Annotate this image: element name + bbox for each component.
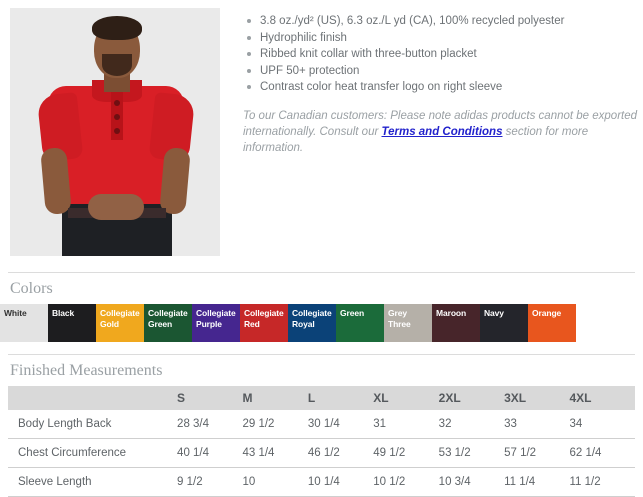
- cell-body-length-3xl: 33: [504, 410, 569, 439]
- feature-item: Hydrophilic finish: [242, 30, 639, 47]
- column-header-4xl: 4XL: [569, 386, 635, 410]
- column-header-blank: [8, 386, 177, 410]
- table-header-row: S M L XL 2XL 3XL 4XL: [8, 386, 635, 410]
- color-swatch-collegiate-royal[interactable]: Collegiate Royal: [288, 304, 336, 342]
- color-swatch-navy[interactable]: Navy: [480, 304, 528, 342]
- model-beard: [102, 54, 132, 76]
- color-swatch-green[interactable]: Green: [336, 304, 384, 342]
- table-row: Sleeve Length 9 1/2 10 10 1/4 10 1/2 10 …: [8, 468, 635, 497]
- terms-and-conditions-link[interactable]: Terms and Conditions: [382, 126, 503, 138]
- column-header-2xl: 2XL: [439, 386, 504, 410]
- cell-sleeve-m: 10: [242, 468, 307, 497]
- cell-body-length-m: 29 1/2: [242, 410, 307, 439]
- cell-chest-2xl: 53 1/2: [439, 439, 504, 468]
- color-swatch-white[interactable]: White: [0, 304, 48, 342]
- model-hair: [92, 16, 142, 40]
- column-header-3xl: 3XL: [504, 386, 569, 410]
- cell-body-length-l: 30 1/4: [308, 410, 373, 439]
- color-swatch-maroon[interactable]: Maroon: [432, 304, 480, 342]
- cell-chest-3xl: 57 1/2: [504, 439, 569, 468]
- product-overview: 3.8 oz./yd² (US), 6.3 oz./L yd (CA), 100…: [0, 0, 643, 258]
- cell-body-length-s: 28 3/4: [177, 410, 242, 439]
- measurements-table-wrap: S M L XL 2XL 3XL 4XL Body Length Back 28…: [0, 386, 643, 497]
- placket-button-1: [114, 100, 120, 106]
- model-hands: [88, 194, 144, 220]
- cell-chest-xl: 49 1/2: [373, 439, 438, 468]
- feature-list: 3.8 oz./yd² (US), 6.3 oz./L yd (CA), 100…: [242, 13, 639, 96]
- table-row: Body Length Back 28 3/4 29 1/2 30 1/4 31…: [8, 410, 635, 439]
- cell-body-length-xl: 31: [373, 410, 438, 439]
- cell-body-length-2xl: 32: [439, 410, 504, 439]
- product-photo[interactable]: [10, 8, 220, 256]
- feature-item: UPF 50+ protection: [242, 63, 639, 80]
- row-label-chest-circumference: Chest Circumference: [8, 439, 177, 468]
- color-swatch-collegiate-gold[interactable]: Collegiate Gold: [96, 304, 144, 342]
- cell-sleeve-3xl: 11 1/4: [504, 468, 569, 497]
- cell-sleeve-2xl: 10 3/4: [439, 468, 504, 497]
- color-swatch-orange[interactable]: Orange: [528, 304, 576, 342]
- colors-heading: Colors: [0, 273, 643, 304]
- placket-button-2: [114, 114, 120, 120]
- row-label-sleeve-length: Sleeve Length: [8, 468, 177, 497]
- table-row: Chest Circumference 40 1/4 43 1/4 46 1/2…: [8, 439, 635, 468]
- finished-measurements-table: S M L XL 2XL 3XL 4XL Body Length Back 28…: [8, 386, 635, 497]
- placket-button-3: [114, 128, 120, 134]
- column-header-xl: XL: [373, 386, 438, 410]
- cell-chest-s: 40 1/4: [177, 439, 242, 468]
- cell-chest-l: 46 1/2: [308, 439, 373, 468]
- feature-item: Ribbed knit collar with three-button pla…: [242, 46, 639, 63]
- cell-sleeve-xl: 10 1/2: [373, 468, 438, 497]
- product-features: 3.8 oz./yd² (US), 6.3 oz./L yd (CA), 100…: [230, 8, 643, 156]
- cell-sleeve-4xl: 11 1/2: [569, 468, 635, 497]
- cell-chest-m: 43 1/4: [242, 439, 307, 468]
- product-image-container[interactable]: [0, 8, 230, 258]
- color-swatch-collegiate-green[interactable]: Collegiate Green: [144, 304, 192, 342]
- canadian-customers-note: To our Canadian customers: Please note a…: [242, 108, 639, 156]
- feature-item: Contrast color heat transfer logo on rig…: [242, 79, 639, 96]
- column-header-l: L: [308, 386, 373, 410]
- color-swatch-collegiate-red[interactable]: Collegiate Red: [240, 304, 288, 342]
- cell-sleeve-l: 10 1/4: [308, 468, 373, 497]
- feature-item: 3.8 oz./yd² (US), 6.3 oz./L yd (CA), 100…: [242, 13, 639, 30]
- color-swatch-row: White Black Collegiate Gold Collegiate G…: [0, 304, 643, 342]
- column-header-s: S: [177, 386, 242, 410]
- cell-chest-4xl: 62 1/4: [569, 439, 635, 468]
- color-swatch-collegiate-purple[interactable]: Collegiate Purple: [192, 304, 240, 342]
- cell-sleeve-s: 9 1/2: [177, 468, 242, 497]
- column-header-m: M: [242, 386, 307, 410]
- cell-body-length-4xl: 34: [569, 410, 635, 439]
- color-swatch-grey-three[interactable]: Grey Three: [384, 304, 432, 342]
- measurements-heading: Finished Measurements: [0, 355, 643, 386]
- color-swatch-black[interactable]: Black: [48, 304, 96, 342]
- row-label-body-length-back: Body Length Back: [8, 410, 177, 439]
